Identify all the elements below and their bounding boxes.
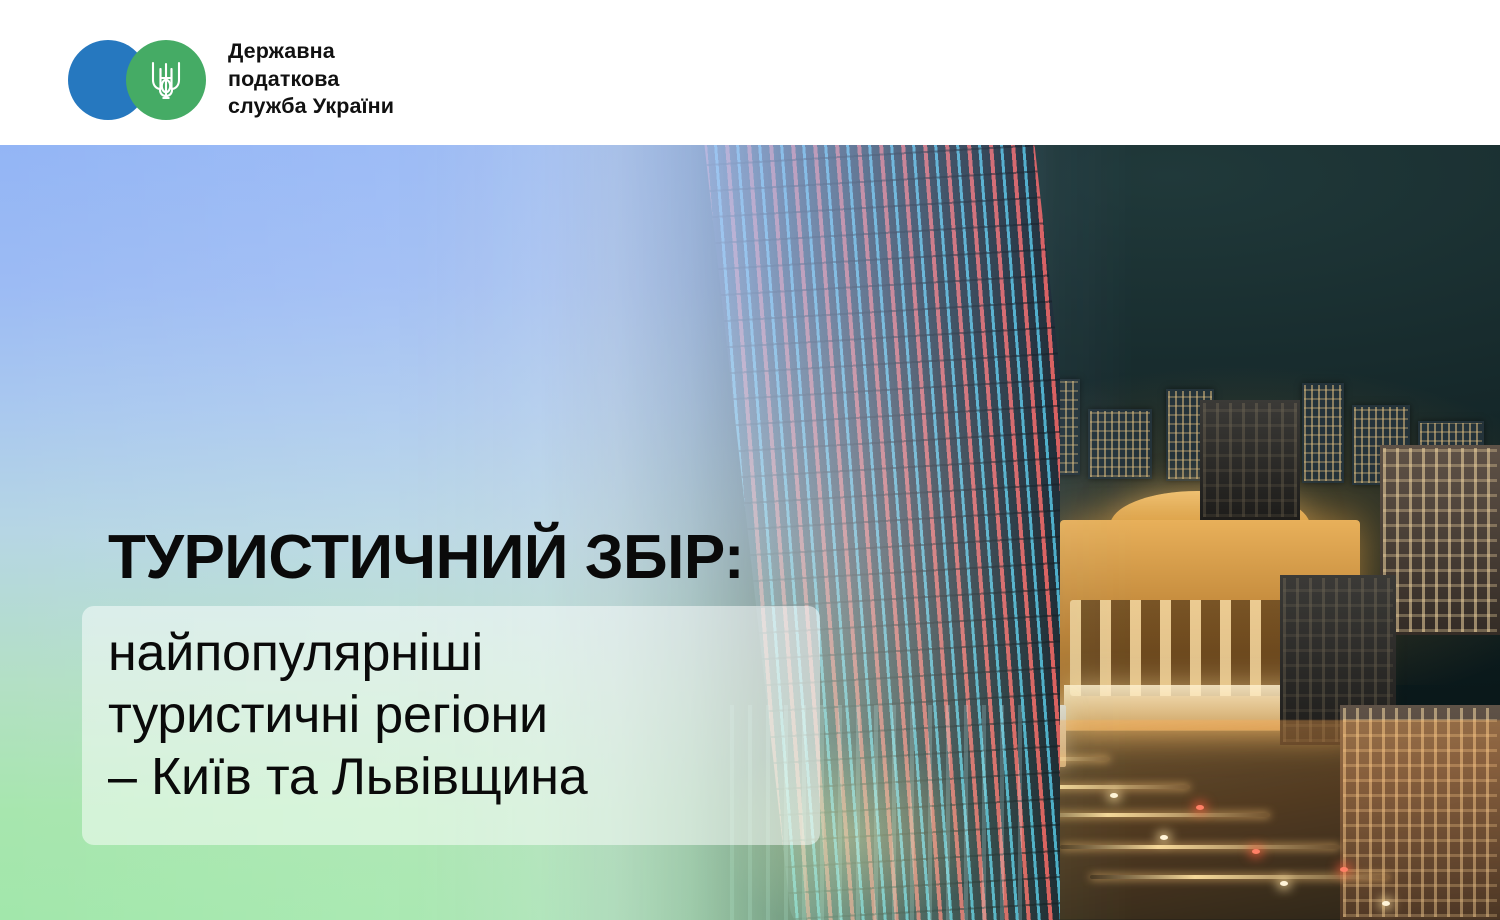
logo-mark-group: [68, 40, 206, 120]
hero-background-stage: ТУРИСТИЧНИЙ ЗБІР: найпопулярніші туристи…: [0, 145, 1500, 920]
organization-name-line-3: служба України: [228, 93, 394, 121]
organization-name-line-1: Державна: [228, 38, 394, 66]
subtitle-line-2: туристичні регіони: [108, 685, 808, 747]
organization-logo-lockup[interactable]: Державна податкова служба України: [68, 38, 394, 121]
subtitle-line-3: – Київ та Львівщина: [108, 747, 808, 809]
subtitle-line-1: найпопулярніші: [108, 623, 808, 685]
poster-canvas: ТУРИСТИЧНИЙ ЗБІР: найпопулярніші туристи…: [0, 0, 1500, 920]
header-bar: Державна податкова служба України: [0, 0, 1500, 145]
ukraine-trident-icon: [126, 40, 206, 120]
organization-name-line-2: податкова: [228, 66, 394, 94]
page-headline: ТУРИСТИЧНИЙ ЗБІР:: [108, 527, 744, 589]
page-subtitle: найпопулярніші туристичні регіони – Київ…: [108, 623, 808, 809]
organization-name: Державна податкова служба України: [228, 38, 394, 121]
